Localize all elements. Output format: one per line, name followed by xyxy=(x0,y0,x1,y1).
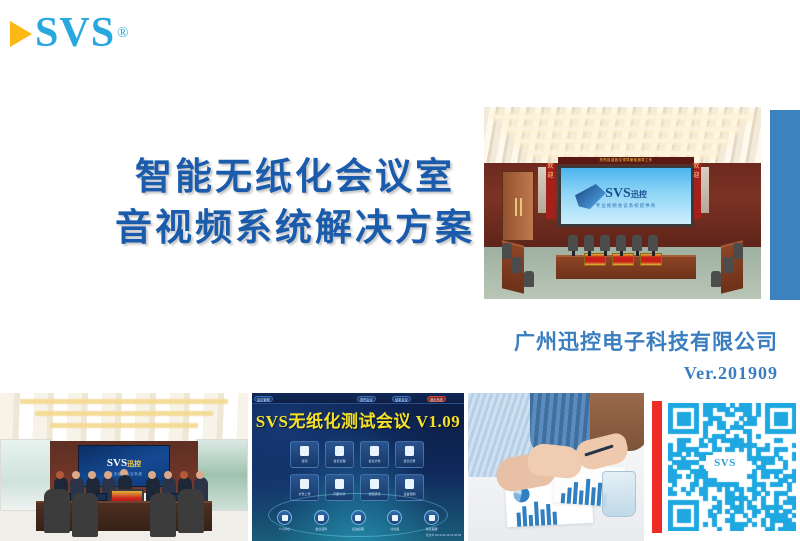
chair xyxy=(44,489,70,533)
camera-icon xyxy=(370,479,379,489)
version-label: Ver.201909 xyxy=(684,363,778,384)
paperless-meeting-software-screenshot: 会议管理 暂停会议 结束会议 退出系统 SVS无纸化测试会议 V1.09 签到 … xyxy=(252,393,464,541)
topbar-left-label: 会议管理 xyxy=(254,396,273,403)
chair xyxy=(72,493,98,537)
qr-code-panel: SVS xyxy=(648,393,800,541)
registered-trademark-icon: ® xyxy=(117,25,128,42)
company-name: 广州迅控电子科技有限公司 xyxy=(514,326,778,356)
nav-vote[interactable]: 表决投票 xyxy=(350,510,367,531)
chat-icon xyxy=(318,515,324,521)
note-icon xyxy=(405,446,414,456)
wall-banner: 热烈欢迎各位领导菅临指导工作 xyxy=(558,157,694,164)
tile-records[interactable]: 会议记录 xyxy=(395,441,424,468)
water-glass xyxy=(602,471,636,517)
bottom-nav: 个人中心 会议话筒 表决投票 讨论组 消息提醒 xyxy=(276,510,440,531)
end-meeting-button[interactable]: 结束会议 xyxy=(392,396,411,403)
desk-flag xyxy=(640,253,662,266)
app-topbar: 会议管理 暂停会议 结束会议 退出系统 xyxy=(252,393,464,404)
document-icon xyxy=(335,446,344,456)
status-text: 会议中 2019-09-16 10:28:36 xyxy=(426,533,461,537)
meeting-room-with-people-photo: SVS迅控 专业无纸化会议系统 xyxy=(0,393,248,541)
nav-intercom[interactable]: 会议话筒 xyxy=(313,510,330,531)
tile-agenda[interactable]: 会议议程 xyxy=(325,441,354,468)
red-accent-bar xyxy=(652,401,662,533)
app-title: SVS无纸化测试会议 V1.09 xyxy=(252,407,464,432)
pause-meeting-button[interactable]: 暂停会议 xyxy=(357,396,376,403)
nav-messages[interactable]: 消息提醒 xyxy=(423,510,440,531)
share-icon xyxy=(335,479,344,489)
title-line-2: 音视频系统解决方案 xyxy=(105,203,485,254)
nav-personal-center[interactable]: 个人中心 xyxy=(276,510,293,531)
ceiling xyxy=(0,393,248,445)
message-icon xyxy=(429,515,435,521)
folder-icon xyxy=(370,446,379,456)
slide-root: SVS ® 智能无纸化会议室 音视频系统解决方案 热烈欢迎各位领导菅临指导工作 … xyxy=(0,0,800,541)
device-icon xyxy=(405,479,414,489)
nav-discussion-group[interactable]: 讨论组 xyxy=(386,510,403,531)
chair xyxy=(178,489,204,533)
group-icon xyxy=(392,515,398,521)
screen-subtitle: 专业视频会议系统提供商 xyxy=(561,203,691,209)
hands-with-charts-photo xyxy=(468,393,644,541)
screen-logo: SVS迅控 xyxy=(561,186,691,202)
desk-flag xyxy=(612,253,634,266)
vote-icon xyxy=(355,515,361,521)
page-title: 智能无纸化会议室 音视频系统解决方案 xyxy=(105,152,485,254)
clipboard-icon xyxy=(300,446,309,456)
exit-system-button[interactable]: 退出系统 xyxy=(427,396,446,403)
tile-files[interactable]: 会议文件 xyxy=(360,441,389,468)
door xyxy=(502,171,534,241)
svs-logo: SVS ® xyxy=(10,12,128,54)
banner-left: 欢迎 xyxy=(546,163,555,219)
accent-bar xyxy=(770,110,800,300)
bottom-image-strip: SVS迅控 专业无纸化会议系统 xyxy=(0,393,800,541)
tile-sign-in[interactable]: 签到 xyxy=(290,441,319,468)
qr-center-label: SVS xyxy=(706,455,744,471)
upload-icon xyxy=(300,479,309,489)
led-screen: SVS迅控 专业视频会议系统提供商 xyxy=(558,165,694,227)
user-icon xyxy=(282,515,288,521)
triangle-icon xyxy=(10,21,32,47)
logo-wordmark: SVS xyxy=(35,12,115,54)
screen-logo: SVS迅控 xyxy=(79,457,169,469)
title-line-1: 智能无纸化会议室 xyxy=(105,152,485,203)
conference-room-photo: 热烈欢迎各位领导菅临指导工作 欢迎 欢迎 SVS迅控 专业视频会议系统提供商 xyxy=(484,107,761,299)
chair xyxy=(150,493,176,537)
